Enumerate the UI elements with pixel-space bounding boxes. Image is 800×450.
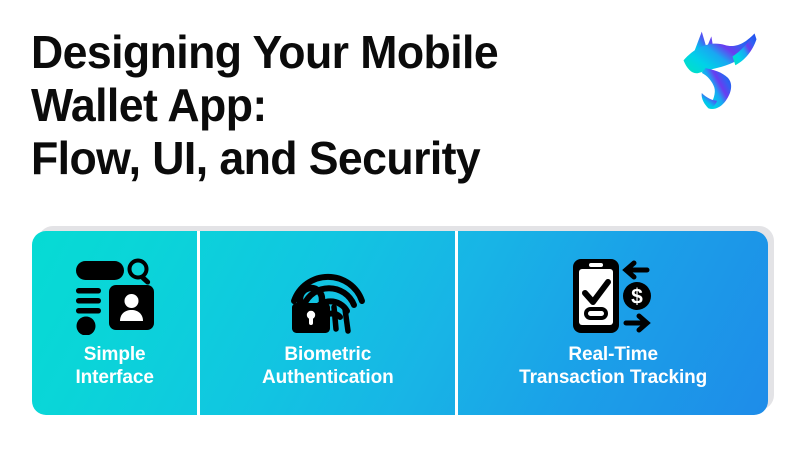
fingerprint-lock-icon xyxy=(288,253,368,339)
phone-transaction-icon: $ xyxy=(569,253,657,339)
title-line-3: Flow, UI, and Security xyxy=(31,132,652,185)
feature-panel-biometric-authentication[interactable]: Biometric Authentication xyxy=(200,231,455,415)
svg-text:$: $ xyxy=(631,286,643,309)
feature-panel-transaction-tracking[interactable]: $ Real-Time Transaction Tracking xyxy=(458,231,768,415)
title-line-1: Designing Your Mobile xyxy=(31,26,652,79)
feature-panel-simple-interface[interactable]: Simple Interface xyxy=(32,231,197,415)
feature-label-biometric-authentication: Biometric Authentication xyxy=(262,343,394,389)
feature-label-transaction-tracking: Real-Time Transaction Tracking xyxy=(519,343,707,389)
profile-search-icon xyxy=(72,253,158,339)
page-title: Designing Your Mobile Wallet App: Flow, … xyxy=(31,26,671,185)
slide-canvas: Designing Your Mobile Wallet App: Flow, … xyxy=(0,0,800,450)
feature-card-band: Simple Interface xyxy=(32,231,768,415)
title-line-2: Wallet App: xyxy=(31,79,652,132)
bird-logo xyxy=(672,22,768,118)
feature-label-simple-interface: Simple Interface xyxy=(76,343,154,389)
